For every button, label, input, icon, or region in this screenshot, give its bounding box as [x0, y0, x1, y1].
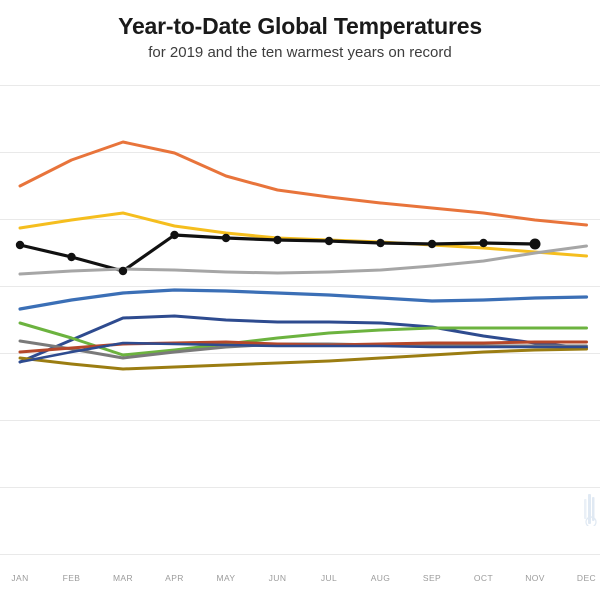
- x-tick-nov: NOV: [525, 573, 545, 583]
- series-layer: [20, 142, 587, 369]
- data-point-marker-2019: [273, 236, 281, 244]
- line-chart-svg: [0, 0, 600, 600]
- x-tick-oct: OCT: [474, 573, 493, 583]
- x-tick-aug: AUG: [371, 573, 391, 583]
- data-point-marker-2019: [67, 253, 75, 261]
- gridlines: [0, 86, 600, 555]
- x-tick-apr: APR: [165, 573, 184, 583]
- chart-container: Year-to-Date Global Temperatures for 201…: [0, 0, 600, 600]
- noaa-logo-watermark: [572, 492, 598, 526]
- x-tick-jun: JUN: [269, 573, 287, 583]
- x-tick-sep: SEP: [423, 573, 441, 583]
- data-point-marker-2019: [325, 237, 333, 245]
- data-point-marker-2019: [428, 240, 436, 248]
- data-point-marker-2019: [119, 267, 127, 275]
- plot-area: [0, 0, 600, 600]
- data-point-marker-2019: [16, 241, 24, 249]
- series-line-2016: [20, 142, 587, 225]
- marker-layer: [16, 231, 541, 275]
- x-tick-dec: DEC: [577, 573, 596, 583]
- x-tick-feb: FEB: [63, 573, 81, 583]
- data-point-marker-2019: [479, 239, 487, 247]
- x-tick-may: MAY: [217, 573, 236, 583]
- x-axis-tick-labels: JANFEBMARAPRMAYJUNJULAUGSEPOCTNOVDEC: [0, 573, 600, 595]
- data-point-marker-2019: [530, 239, 541, 250]
- x-tick-jan: JAN: [11, 573, 28, 583]
- data-point-marker-2019: [170, 231, 178, 239]
- series-line-2018: [20, 290, 587, 309]
- x-tick-jul: JUL: [321, 573, 337, 583]
- x-tick-mar: MAR: [113, 573, 133, 583]
- data-point-marker-2019: [222, 234, 230, 242]
- series-line-2009: [20, 349, 587, 369]
- data-point-marker-2019: [376, 239, 384, 247]
